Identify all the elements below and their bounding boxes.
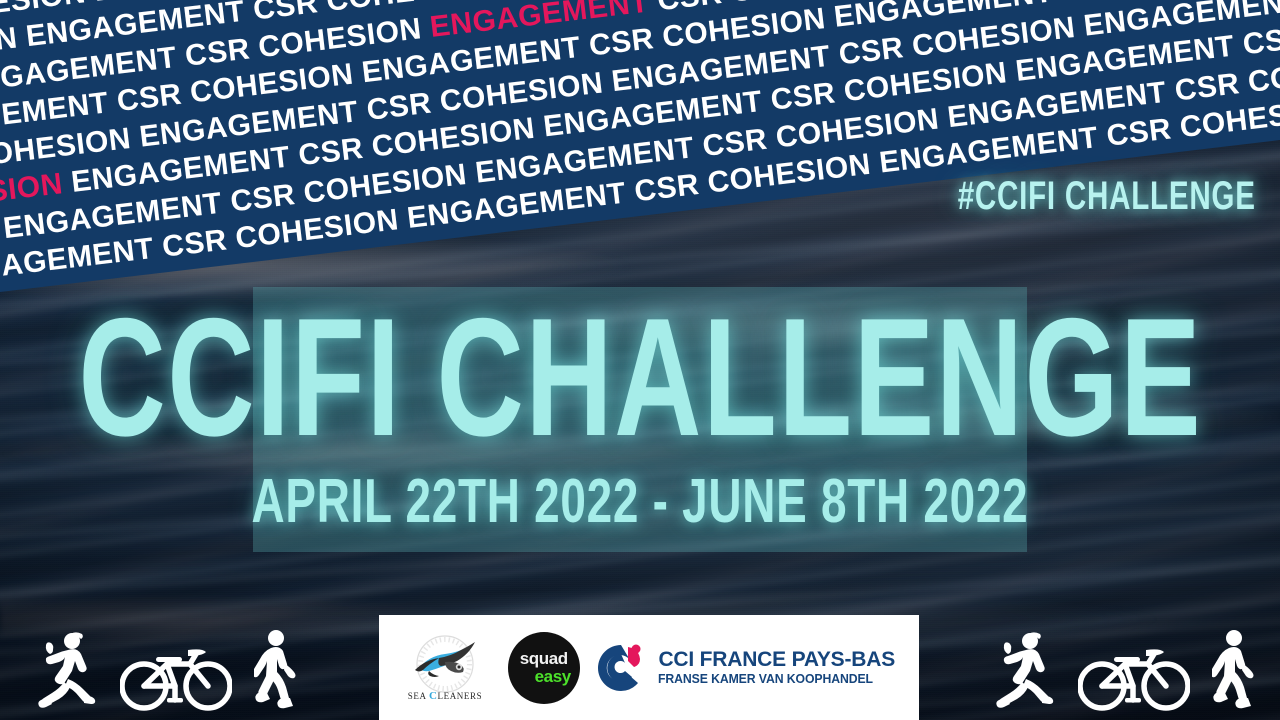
sea-cleaners-logo: SEA CLEANERS <box>397 629 493 707</box>
hero-title-panel: CCIFI CHALLENGE APRIL 22TH 2022 - JUNE 8… <box>253 287 1027 552</box>
squadeasy-logo: squad easy <box>508 632 580 704</box>
hashtag-label: #CCIFI CHALLENGE <box>958 174 1256 219</box>
cci-mark-icon <box>594 641 648 695</box>
sc-prefix: SEA <box>408 691 429 701</box>
cci-title-line: CCI FRANCE PAYS-BAS <box>658 649 895 671</box>
cci-france-pays-bas-logo: CCI FRANCE PAYS-BAS FRANSE KAMER VAN KOO… <box>594 641 895 695</box>
sponsor-logo-bar: SEA CLEANERS squad easy CCI FRANCE PAYS-… <box>379 615 919 720</box>
sea-cleaners-wordmark: SEA CLEANERS <box>408 690 482 702</box>
bicycle-icon <box>1078 640 1190 712</box>
squadeasy-word-squad: squad <box>520 650 568 667</box>
walking-person-icon <box>254 628 300 712</box>
event-dates: APRIL 22TH 2022 - JUNE 8TH 2022 <box>252 471 1029 533</box>
sc-accent-letter: C <box>429 690 438 702</box>
manta-ray-icon <box>399 634 491 694</box>
walking-person-icon <box>1212 628 1258 712</box>
challenge-banner-poster: CSR COHESION ENGAGEMENT CSR COHESION ENG… <box>0 0 1280 720</box>
page-title: CCIFI CHALLENGE <box>78 301 1202 453</box>
squadeasy-word-easy: easy <box>535 668 571 685</box>
activity-icons-right <box>996 628 1258 712</box>
bicycle-icon <box>120 640 232 712</box>
cci-subtitle-line: FRANSE KAMER VAN KOOPHANDEL <box>658 673 890 686</box>
activity-icons-left <box>38 628 300 712</box>
running-person-icon <box>996 630 1056 712</box>
running-person-icon <box>38 630 98 712</box>
sc-suffix: LEANERS <box>438 691 483 701</box>
